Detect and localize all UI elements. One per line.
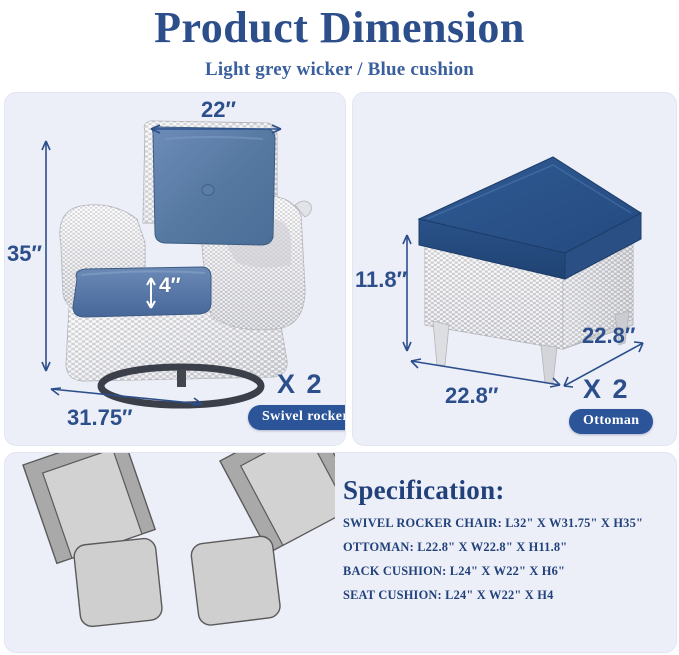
chair-badge: Swivel rocker xyxy=(248,405,346,430)
top-view-chair xyxy=(220,453,335,553)
chair-width-label: 22″ xyxy=(201,99,236,121)
specification-panel: Specification: SWIVEL ROCKER CHAIR: L32"… xyxy=(4,452,677,653)
chair-depth-label: 31.75″ xyxy=(67,407,133,429)
top-view-ottoman xyxy=(73,537,163,627)
spec-line-ottoman: OTTOMAN: L22.8" X W22.8" X H11.8" xyxy=(343,540,673,555)
chair-quantity: X 2 xyxy=(277,369,324,400)
spec-line-back-cushion: BACK CUSHION: L24" X W22" X H6" xyxy=(343,564,673,579)
spec-line-seat-cushion: SEAT CUSHION: L24" X W22" X H4 xyxy=(343,588,673,603)
ottoman-panel: 11.8″ 22.8″ 22.8″ X 2 Ottoman xyxy=(352,92,677,446)
ottoman-depth-label: 22.8″ xyxy=(582,325,635,347)
ottoman-quantity: X 2 xyxy=(583,374,630,405)
top-view-ottoman xyxy=(190,535,281,626)
specification-title: Specification: xyxy=(343,475,673,506)
swivel-rocker-panel: 22″ 35″ 4″ 31.75″ X 2 Swivel rocker xyxy=(4,92,346,446)
chair-height-label: 35″ xyxy=(7,243,42,265)
header: Product Dimension Light grey wicker / Bl… xyxy=(0,0,679,90)
product-dimension-infographic: Product Dimension Light grey wicker / Bl… xyxy=(0,0,679,655)
ottoman-badge: Ottoman xyxy=(569,409,653,434)
page-title: Product Dimension xyxy=(0,6,679,50)
top-view-layout-diagram xyxy=(5,453,335,652)
chair-seat-cushion-label: 4″ xyxy=(159,275,181,296)
ottoman-height-label: 11.8″ xyxy=(355,269,407,291)
specification-text: Specification: SWIVEL ROCKER CHAIR: L32"… xyxy=(343,475,673,612)
page-subtitle: Light grey wicker / Blue cushion xyxy=(0,59,679,81)
ottoman-width-label: 22.8″ xyxy=(445,385,498,407)
spec-line-chair: SWIVEL ROCKER CHAIR: L32" X W31.75" X H3… xyxy=(343,516,673,531)
